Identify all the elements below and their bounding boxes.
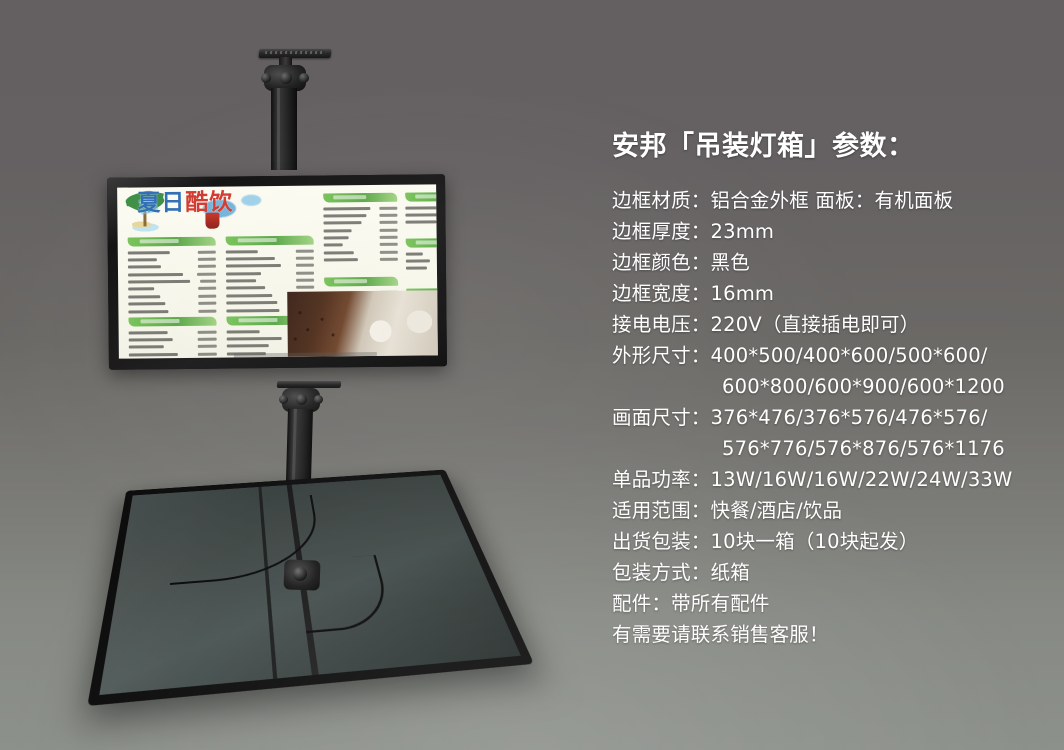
- menu-item-row: [128, 308, 216, 315]
- menu-item-name: [226, 279, 256, 282]
- menu-item-name: [128, 302, 165, 305]
- menu-item-price: [380, 228, 398, 231]
- menu-section-header: [324, 277, 398, 287]
- swivel-bolt-right-icon: [299, 73, 309, 83]
- menu-item-name: [323, 214, 366, 217]
- menu-item-name: [324, 236, 349, 239]
- menu-item-name: [128, 288, 154, 291]
- menu-item-row: [324, 249, 398, 256]
- menu-item-price: [197, 272, 216, 275]
- menu-item-name: [129, 345, 164, 348]
- product-photo: 夏日酷饮: [0, 0, 600, 750]
- menu-section-header: [406, 238, 438, 248]
- menu-item-row: [324, 234, 398, 241]
- clamp-pin-icon: [293, 567, 307, 581]
- menu-item-price: [197, 330, 216, 333]
- menu-item-price: [380, 206, 398, 209]
- menu-section: [323, 193, 398, 265]
- menu-item-row: [226, 285, 314, 292]
- menu-item-row: [128, 300, 216, 307]
- menu-item-name: [128, 258, 157, 261]
- ceiling-mount-plate-top: [258, 49, 331, 58]
- menu-rows: [406, 250, 438, 272]
- menu-section-header: [128, 237, 216, 247]
- menu-section: [128, 317, 217, 359]
- menu-item-price: [380, 258, 398, 261]
- menu-item-name: [226, 287, 265, 290]
- swivel-bolt-center-icon: [280, 72, 292, 84]
- menu-item-name: [405, 221, 436, 224]
- menu-item-row: [406, 257, 438, 264]
- specification-line: 单品功率：13W/16W/16W/22W/24W/33W: [612, 464, 1052, 495]
- menu-item-name: [226, 250, 258, 253]
- specification-line: 边框宽度：16mm: [612, 278, 1052, 309]
- menu-item-name: [227, 337, 282, 341]
- menu-item-row: [323, 205, 397, 212]
- menu-item-price: [199, 302, 217, 305]
- menu-item-name: [226, 301, 277, 305]
- menu-item-row: [406, 265, 438, 272]
- specification-line: 边框材质：铝合金外框 面板：有机面板: [612, 185, 1052, 216]
- menu-item-name: [324, 229, 352, 232]
- menu-item-price: [197, 352, 216, 355]
- menu-item-price: [200, 280, 216, 283]
- specification-line: 包装方式：纸箱: [612, 557, 1052, 588]
- specification-line: 有需要请联系销售客服！: [612, 619, 1052, 650]
- menu-item-price: [296, 271, 314, 274]
- menu-item-row: [128, 249, 216, 256]
- specification-line: 外形尺寸：400*500/400*600/500*600/: [612, 340, 1052, 371]
- menu-item-name: [226, 264, 281, 268]
- menu-item-row: [405, 219, 437, 226]
- menu-item-name: [406, 252, 423, 255]
- menu-item-row: [323, 212, 397, 219]
- specification-line: 接电电压：220V（直接插电即可）: [612, 309, 1052, 340]
- specification-line: 画面尺寸：376*476/376*576/476*576/: [612, 402, 1052, 433]
- menu-item-price: [297, 286, 315, 289]
- menu-item-row: [129, 336, 217, 343]
- panel-mount-clamp: [283, 559, 320, 590]
- menu-item-name: [128, 251, 170, 254]
- swivel-bolt-left-icon: [261, 73, 271, 83]
- mount-pole-top: [271, 88, 297, 170]
- menu-item-name: [129, 331, 168, 334]
- menu-item-row: [324, 227, 398, 234]
- menu-item-name: [324, 251, 354, 254]
- menu-item-price: [198, 250, 216, 253]
- menu-item-name: [128, 265, 161, 268]
- menu-section: [405, 192, 438, 227]
- menu-item-price: [296, 257, 314, 260]
- menu-item-row: [226, 270, 314, 277]
- menu-title-part1: 夏日: [137, 190, 185, 217]
- specification-line: 出货包装：10块一箱（10块起发）: [612, 526, 1052, 557]
- ceiling-mount-plate-bottom: [277, 381, 342, 388]
- menu-item-name: [323, 207, 370, 210]
- menu-item-price: [296, 279, 314, 282]
- menu-item-row: [324, 256, 398, 263]
- menu-item-row: [406, 250, 438, 257]
- menu-item-name: [128, 273, 183, 277]
- specifications-title: 安邦「吊装灯箱」参数：: [612, 124, 1052, 163]
- menu-item-name: [128, 310, 168, 313]
- menu-item-price: [380, 221, 398, 224]
- menu-item-name: [406, 267, 427, 270]
- menu-section-header: [226, 236, 314, 246]
- menu-item-row: [324, 242, 398, 249]
- menu-item-row: [128, 271, 216, 278]
- menu-item-price: [380, 243, 398, 246]
- menu-item-row: [226, 255, 314, 262]
- menu-section-header: [405, 192, 438, 202]
- menu-item-row: [405, 204, 438, 211]
- menu-item-row: [128, 286, 216, 293]
- menu-item-price: [199, 287, 217, 290]
- menu-item-price: [198, 265, 216, 268]
- menu-item-row: [226, 248, 314, 255]
- specifications-list: 边框材质：铝合金外框 面板：有机面板边框厚度：23mm边框颜色：黑色边框宽度：1…: [612, 185, 1052, 650]
- menu-item-name: [324, 244, 343, 247]
- menu-item-row: [226, 262, 314, 269]
- menu-item-row: [128, 293, 216, 300]
- menu-section-header: [128, 317, 216, 327]
- menu-item-name: [226, 294, 272, 297]
- product-photo-page: 夏日酷饮: [0, 0, 1064, 750]
- menu-rows: [405, 204, 438, 226]
- menu-section: [128, 237, 217, 316]
- specification-line: 576*776/576*876/576*1176: [612, 433, 1052, 464]
- menu-watermark: [234, 352, 378, 358]
- swivel-bolt-right-icon: [314, 395, 323, 404]
- menu-item-name: [405, 206, 438, 209]
- menu-item-name: [128, 280, 190, 284]
- menu-rows: [323, 205, 398, 264]
- specification-line: 边框颜色：黑色: [612, 247, 1052, 278]
- menu-item-price: [380, 236, 398, 239]
- menu-item-name: [226, 272, 261, 275]
- coffee-cup-photo: [287, 290, 438, 357]
- menu-item-row: [128, 256, 216, 263]
- menu-item-name: [227, 344, 269, 347]
- menu-item-name: [128, 295, 160, 298]
- menu-section: [406, 238, 438, 273]
- menu-section-header: [323, 193, 397, 203]
- menu-rows: [129, 329, 217, 359]
- menu-panel: 夏日酷饮: [117, 184, 438, 358]
- specifications-block: 安邦「吊装灯箱」参数： 边框材质：铝合金外框 面板：有机面板边框厚度：23mm边…: [612, 124, 1052, 650]
- menu-item-price: [296, 249, 314, 252]
- menu-item-price: [380, 214, 398, 217]
- menu-item-price: [197, 338, 216, 341]
- swivel-bolt-left-icon: [279, 395, 288, 404]
- menu-item-row: [129, 343, 217, 350]
- menu-item-price: [199, 309, 217, 312]
- menu-item-name: [227, 330, 260, 333]
- menu-item-name: [406, 259, 430, 262]
- menu-item-name: [323, 221, 361, 224]
- light-box-front: 夏日酷饮: [107, 174, 447, 370]
- menu-item-row: [226, 277, 314, 284]
- drink-cup-illustration: [205, 213, 219, 229]
- menu-item-row: [128, 263, 216, 270]
- aluminum-frame: 夏日酷饮: [107, 174, 447, 370]
- menu-item-name: [129, 338, 173, 341]
- menu-item-row: [129, 329, 217, 336]
- specification-line: 配件：带所有配件: [612, 588, 1052, 619]
- menu-item-name: [324, 258, 358, 261]
- menu-item-price: [197, 345, 216, 348]
- specification-line: 600*800/600*900/600*1200: [612, 371, 1052, 402]
- menu-item-price: [199, 294, 217, 297]
- menu-rows: [128, 249, 217, 315]
- swivel-bolt-center-icon: [296, 394, 307, 405]
- menu-item-row: [129, 351, 217, 358]
- menu-item-row: [405, 211, 438, 218]
- menu-item-name: [129, 353, 178, 357]
- menu-item-price: [380, 251, 398, 254]
- menu-item-name: [226, 309, 279, 313]
- menu-item-row: [323, 220, 397, 227]
- menu-item-name: [405, 213, 437, 216]
- menu-item-row: [128, 278, 216, 285]
- specification-line: 适用范围：快餐/酒店/饮品: [612, 495, 1052, 526]
- menu-item-name: [226, 257, 275, 261]
- menu-item-price: [198, 258, 216, 261]
- menu-item-price: [296, 264, 314, 267]
- specification-line: 边框厚度：23mm: [612, 216, 1052, 247]
